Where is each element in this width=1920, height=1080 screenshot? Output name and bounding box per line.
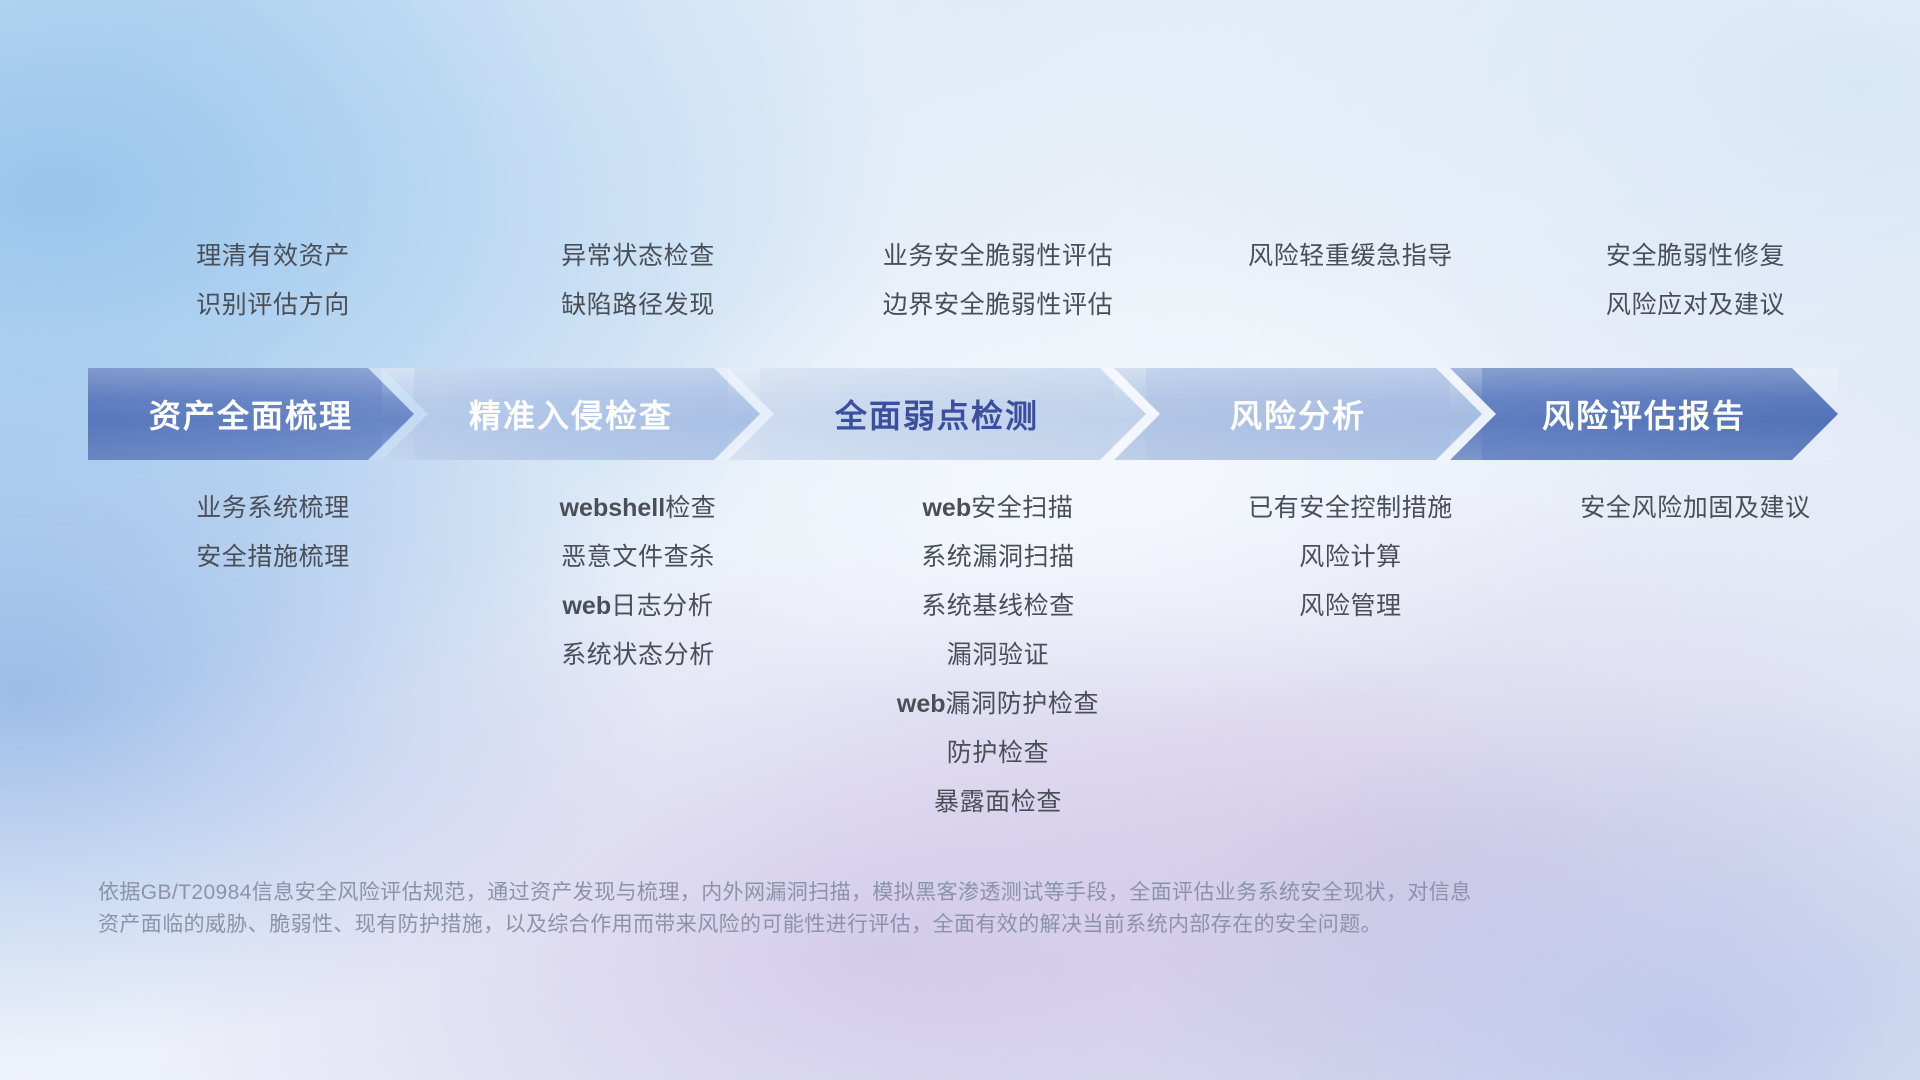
top-captions-weakness-detection: 业务安全脆弱性评估 边界安全脆弱性评估 bbox=[818, 232, 1178, 330]
top-captions-intrusion-check: 异常状态检查 缺陷路径发现 bbox=[458, 232, 818, 330]
details-asset-inventory: 业务系统梳理 安全措施梳理 bbox=[88, 484, 458, 582]
detail-text: 漏洞验证 bbox=[947, 641, 1049, 669]
detail-text: 安全扫描 bbox=[971, 494, 1073, 522]
details-weakness-detection: web安全扫描 系统漏洞扫描 系统基线检查 漏洞验证 web漏洞防护检查 防护检… bbox=[818, 484, 1178, 827]
detail-item: 风险计算 bbox=[1299, 533, 1401, 582]
chevron-stage-intrusion-check[interactable]: 精准入侵检查 bbox=[382, 368, 760, 460]
top-captions-risk-analysis: 风险轻重缓急指导 bbox=[1178, 232, 1523, 330]
detail-text: 业务系统梳理 bbox=[196, 494, 350, 522]
process-diagram: 理清有效资产 识别评估方向 异常状态检查 缺陷路径发现 业务安全脆弱性评估 边界… bbox=[0, 0, 1920, 1080]
detail-item: 已有安全控制措施 bbox=[1248, 484, 1453, 533]
details-assessment-report: 安全风险加固及建议 bbox=[1523, 484, 1868, 533]
chevron-stage-risk-analysis[interactable]: 风险分析 bbox=[1114, 368, 1482, 460]
detail-item: 系统漏洞扫描 bbox=[921, 533, 1075, 582]
caption-line: 风险轻重缓急指导 bbox=[1248, 232, 1453, 281]
detail-text: 风险管理 bbox=[1299, 592, 1401, 620]
detail-text: 漏洞防护检查 bbox=[946, 690, 1100, 718]
detail-text: 防护检查 bbox=[947, 739, 1049, 767]
detail-text: 恶意文件查杀 bbox=[561, 543, 715, 571]
footer-description: 依据GB/T20984信息安全风险评估规范，通过资产发现与梳理，内外网漏洞扫描，… bbox=[98, 877, 1738, 941]
detail-item: 漏洞验证 bbox=[947, 631, 1049, 680]
chevron-label: 精准入侵检查 bbox=[469, 391, 673, 437]
chevron-label: 风险评估报告 bbox=[1542, 391, 1746, 437]
detail-text: 系统状态分析 bbox=[561, 641, 715, 669]
detail-text: 已有安全控制措施 bbox=[1248, 494, 1453, 522]
chevron-label: 资产全面梳理 bbox=[149, 391, 353, 437]
detail-latin: web bbox=[922, 494, 971, 522]
caption-line: 缺陷路径发现 bbox=[561, 281, 715, 330]
details-intrusion-check: webshell检查 恶意文件查杀 web日志分析 系统状态分析 bbox=[458, 484, 818, 680]
detail-item: 业务系统梳理 bbox=[196, 484, 350, 533]
detail-item: web漏洞防护检查 bbox=[897, 680, 1099, 729]
caption-line: 边界安全脆弱性评估 bbox=[883, 281, 1113, 330]
detail-text: 暴露面检查 bbox=[934, 788, 1062, 816]
detail-item: 系统基线检查 bbox=[921, 582, 1075, 631]
detail-latin: web bbox=[562, 592, 611, 620]
chevron-label: 风险分析 bbox=[1230, 391, 1366, 437]
caption-line: 异常状态检查 bbox=[561, 232, 715, 281]
top-captions-asset-inventory: 理清有效资产 识别评估方向 bbox=[88, 232, 458, 330]
top-captions-row: 理清有效资产 识别评估方向 异常状态检查 缺陷路径发现 业务安全脆弱性评估 边界… bbox=[0, 232, 1920, 330]
details-risk-analysis: 已有安全控制措施 风险计算 风险管理 bbox=[1178, 484, 1523, 631]
caption-line: 安全脆弱性修复 bbox=[1606, 232, 1785, 281]
footer-line-2: 资产面临的威胁、脆弱性、现有防护措施，以及综合作用而带来风险的可能性进行评估，全… bbox=[98, 909, 1738, 941]
detail-item: 安全风险加固及建议 bbox=[1580, 484, 1810, 533]
process-chevron-band: 资产全面梳理 精准入侵检查 全面弱点检测 风险分析 风险评估报告 bbox=[88, 368, 1838, 460]
slide-canvas: 理清有效资产 识别评估方向 异常状态检查 缺陷路径发现 业务安全脆弱性评估 边界… bbox=[0, 0, 1920, 1080]
detail-text: 系统基线检查 bbox=[921, 592, 1075, 620]
caption-line: 识别评估方向 bbox=[196, 281, 350, 330]
chevron-stage-asset-inventory[interactable]: 资产全面梳理 bbox=[88, 368, 414, 460]
chevron-stage-assessment-report[interactable]: 风险评估报告 bbox=[1450, 368, 1838, 460]
detail-item: webshell检查 bbox=[560, 484, 717, 533]
detail-item: 恶意文件查杀 bbox=[561, 533, 715, 582]
caption-line: 业务安全脆弱性评估 bbox=[883, 232, 1113, 281]
detail-text: 风险计算 bbox=[1299, 543, 1401, 571]
detail-text: 系统漏洞扫描 bbox=[921, 543, 1075, 571]
detail-latin: web bbox=[897, 690, 946, 718]
detail-item: 安全措施梳理 bbox=[196, 533, 350, 582]
top-captions-assessment-report: 安全脆弱性修复 风险应对及建议 bbox=[1523, 232, 1868, 330]
detail-item: 系统状态分析 bbox=[561, 631, 715, 680]
detail-item: 风险管理 bbox=[1299, 582, 1401, 631]
detail-item: 防护检查 bbox=[947, 729, 1049, 778]
detail-item: 暴露面检查 bbox=[934, 778, 1062, 827]
detail-text: 安全措施梳理 bbox=[196, 543, 350, 571]
detail-text: 检查 bbox=[665, 494, 716, 522]
chevron-label: 全面弱点检测 bbox=[835, 391, 1039, 437]
detail-text: 日志分析 bbox=[611, 592, 713, 620]
detail-text: 安全风险加固及建议 bbox=[1580, 494, 1810, 522]
caption-line: 理清有效资产 bbox=[196, 232, 350, 281]
detail-latin: webshell bbox=[560, 494, 666, 522]
caption-line: 风险应对及建议 bbox=[1606, 281, 1785, 330]
bottom-details-row: 业务系统梳理 安全措施梳理 webshell检查 恶意文件查杀 web日志分析 … bbox=[0, 484, 1920, 827]
footer-line-1: 依据GB/T20984信息安全风险评估规范，通过资产发现与梳理，内外网漏洞扫描，… bbox=[98, 877, 1738, 909]
detail-item: web安全扫描 bbox=[922, 484, 1073, 533]
detail-item: web日志分析 bbox=[562, 582, 713, 631]
chevron-stage-weakness-detection[interactable]: 全面弱点检测 bbox=[728, 368, 1146, 460]
